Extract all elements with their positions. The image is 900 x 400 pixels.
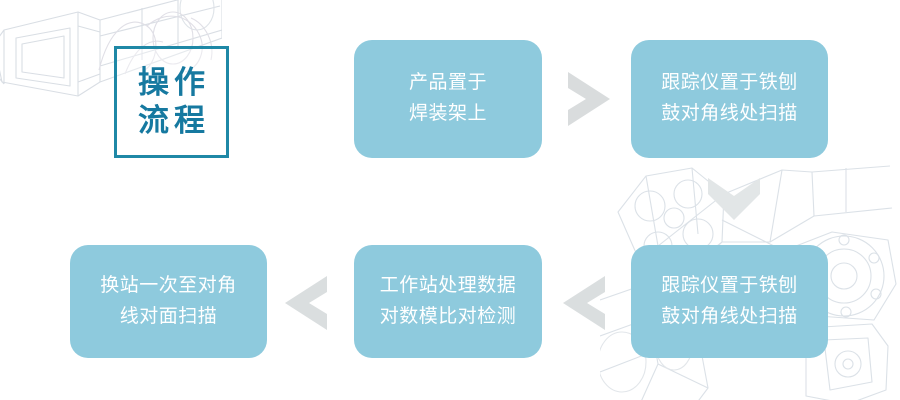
chevron-left-icon <box>561 274 607 332</box>
flow-title-line-1: 操作 <box>133 64 210 102</box>
flow-step-3-line-2: 鼓对角线处扫描 <box>661 302 798 333</box>
flow-step-1-line-1: 产品置于 <box>409 68 487 99</box>
flow-step-1-line-2: 焊装架上 <box>409 99 487 130</box>
flow-step-3-line-1: 跟踪仪置于铁刨 <box>661 271 798 302</box>
flow-step-4-line-1: 工作站处理数据 <box>380 271 517 302</box>
flow-title-plate: 操作 流程 <box>114 46 229 158</box>
flow-step-5[interactable]: 换站一次至对角 线对面扫描 <box>70 245 267 358</box>
flow-step-4-line-2: 对数模比对检测 <box>380 302 517 333</box>
flow-step-2-line-1: 跟踪仪置于铁刨 <box>661 68 798 99</box>
flow-step-2[interactable]: 跟踪仪置于铁刨 鼓对角线处扫描 <box>631 40 828 158</box>
flow-step-4[interactable]: 工作站处理数据 对数模比对检测 <box>354 245 542 358</box>
chevron-right-icon <box>566 70 612 128</box>
flow-step-5-line-1: 换站一次至对角 <box>100 271 237 302</box>
flow-title-line-2: 流程 <box>133 102 210 140</box>
flow-step-1[interactable]: 产品置于 焊装架上 <box>354 40 542 158</box>
flow-step-5-line-2: 线对面扫描 <box>120 302 218 333</box>
chevron-down-icon <box>706 176 762 222</box>
flow-step-2-line-2: 鼓对角线处扫描 <box>661 99 798 130</box>
flowchart-canvas: 操作 流程 产品置于 焊装架上 跟踪仪置于铁刨 鼓对角线处扫描 跟踪仪置于铁刨 … <box>0 0 900 400</box>
flow-step-3[interactable]: 跟踪仪置于铁刨 鼓对角线处扫描 <box>631 245 828 358</box>
chevron-left-icon <box>283 274 329 332</box>
